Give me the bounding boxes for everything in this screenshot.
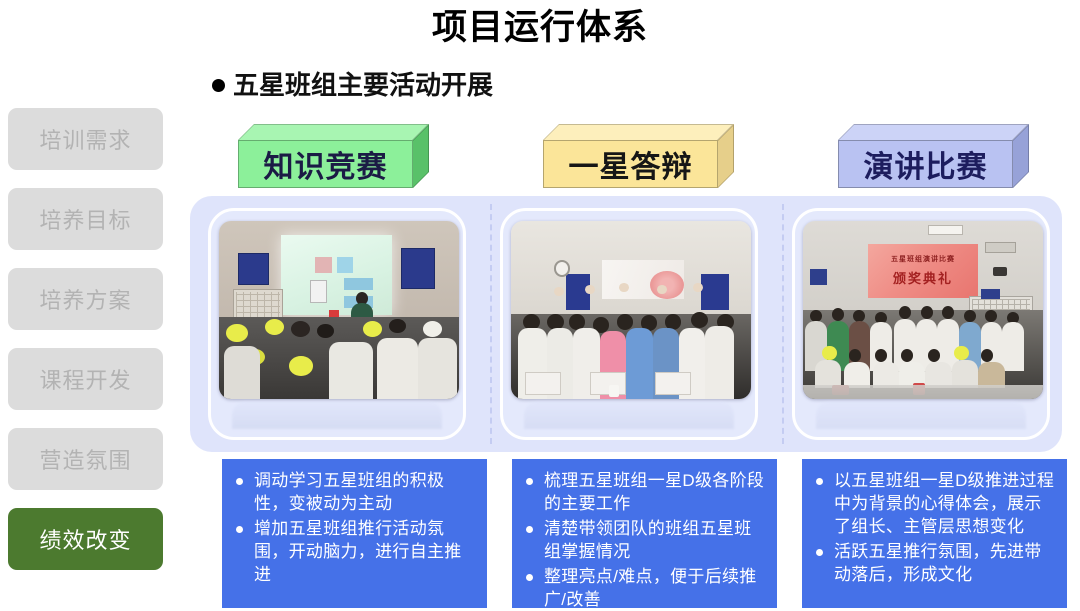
page-title: 项目运行体系 <box>0 6 1080 50</box>
bullet-box-knowledge-contest: 调动学习五星班组的积极性，变被动为主动 增加五星班组推行活动氛围，开动脑力，进行… <box>222 459 487 608</box>
bullet-list: 调动学习五星班组的积极性，变被动为主动 增加五星班组推行活动氛围，开动脑力，进行… <box>230 469 477 586</box>
photo-panel: 五星班组演讲比赛 颁奖典礼 <box>190 196 1062 452</box>
award-ceremony-group-photo: 五星班组演讲比赛 颁奖典礼 <box>803 221 1043 399</box>
banner-line-1: 五星班组演讲比赛 <box>868 254 978 264</box>
column-label-text: 知识竞赛 <box>238 140 413 188</box>
panel-divider <box>490 204 492 444</box>
column-label-one-star-defense: 一星答辩 <box>543 124 718 172</box>
photo-reflection <box>524 401 734 429</box>
sidebar-item-create-atmosphere[interactable]: 营造氛围 <box>8 428 163 490</box>
sidebar-item-training-goal[interactable]: 培养目标 <box>8 188 163 250</box>
sidebar-item-label: 营造氛围 <box>39 443 131 475</box>
list-item: 调动学习五星班组的积极性，变被动为主动 <box>230 469 477 515</box>
sidebar-item-course-development[interactable]: 课程开发 <box>8 348 163 410</box>
sidebar-item-label: 培训需求 <box>39 123 131 155</box>
sidebar-item-performance-change[interactable]: 绩效改变 <box>8 508 163 570</box>
list-item: 增加五星班组推行活动氛围，开动脑力，进行自主推进 <box>230 517 477 586</box>
column-label-knowledge-contest: 知识竞赛 <box>238 124 413 172</box>
list-item: 整理亮点/难点，便于后续推广/改善 <box>520 565 767 611</box>
sidebar-item-label: 绩效改变 <box>39 523 131 555</box>
sidebar: 培训需求 培养目标 培养方案 课程开发 营造氛围 绩效改变 <box>8 108 163 588</box>
sidebar-item-label: 课程开发 <box>39 363 131 395</box>
list-item: 以五星班组一星D级推进过程中为背景的心得体会，展示了组长、主管层思想变化 <box>810 469 1057 538</box>
panel-divider <box>782 204 784 444</box>
training-classroom-projector-photo <box>219 221 459 399</box>
cube-top-face <box>838 124 1029 140</box>
column-label-speech-contest: 演讲比赛 <box>838 124 1013 172</box>
list-item: 清楚带领团队的班组五星班组掌握情况 <box>520 517 767 563</box>
column-label-text: 一星答辩 <box>543 140 718 188</box>
sidebar-item-label: 培养目标 <box>39 203 131 235</box>
bullet-box-speech-contest: 以五星班组一星D级推进过程中为背景的心得体会，展示了组长、主管层思想变化 活跃五… <box>802 459 1067 608</box>
photo-reflection <box>816 401 1026 429</box>
sidebar-item-training-needs[interactable]: 培训需求 <box>8 108 163 170</box>
photo-reflection <box>232 401 442 429</box>
sidebar-item-label: 培养方案 <box>39 283 131 315</box>
banner-line-2: 颁奖典礼 <box>868 268 978 287</box>
section-heading-label: 五星班组主要活动开展 <box>233 70 493 100</box>
bullet-list: 以五星班组一星D级推进过程中为背景的心得体会，展示了组长、主管层思想变化 活跃五… <box>810 469 1057 586</box>
photo-card-one-star-defense[interactable] <box>500 208 758 440</box>
cube-top-face <box>543 124 734 140</box>
team-group-waving-photo <box>511 221 751 399</box>
column-label-text: 演讲比赛 <box>838 140 1013 188</box>
section-heading: 五星班组主要活动开展 <box>212 70 493 100</box>
list-item: 活跃五星推行氛围，先进带动落后，形成文化 <box>810 540 1057 586</box>
bullet-list: 梳理五星班组一星D级各阶段的主要工作 清楚带领团队的班组五星班组掌握情况 整理亮… <box>520 469 767 611</box>
sidebar-item-training-plan[interactable]: 培养方案 <box>8 268 163 330</box>
filled-circle-bullet-icon <box>212 79 225 92</box>
list-item: 梳理五星班组一星D级各阶段的主要工作 <box>520 469 767 515</box>
cube-top-face <box>238 124 429 140</box>
photo-card-knowledge-contest[interactable] <box>208 208 466 440</box>
bullet-box-one-star-defense: 梳理五星班组一星D级各阶段的主要工作 清楚带领团队的班组五星班组掌握情况 整理亮… <box>512 459 777 608</box>
photo-card-speech-contest[interactable]: 五星班组演讲比赛 颁奖典礼 <box>792 208 1050 440</box>
